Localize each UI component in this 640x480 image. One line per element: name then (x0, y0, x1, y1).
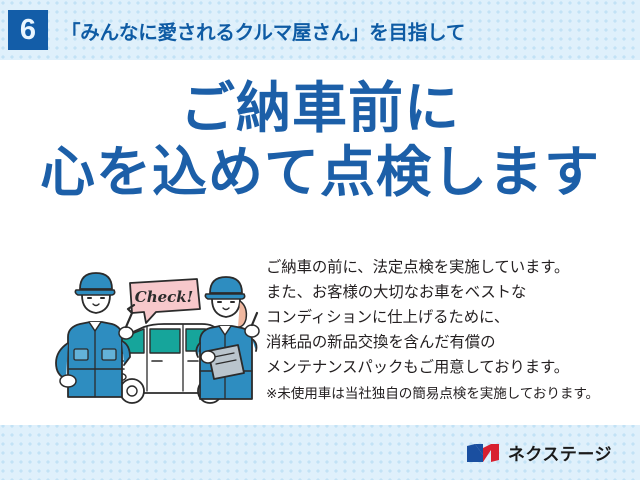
copy-note: ※未使用車は当社独自の簡易点検を実施しております。 (266, 383, 636, 405)
copy-line-4: 消耗品の新品交換を含んだ有償の (266, 331, 636, 356)
copy-line-2: また、お客様の大切なお車をベストな (266, 281, 636, 306)
headline-line-1: ご納車前に (0, 80, 640, 136)
male-mechanic-figure (56, 273, 134, 397)
female-mechanic-figure (196, 277, 259, 399)
nextage-n-mark (466, 442, 500, 464)
copy-line-3: コンディションに仕上げるために、 (266, 306, 636, 331)
page-footer: ネクステージ (0, 425, 640, 480)
promo-page: 6 「みんなに愛されるクルマ屋さん」を目指して ご納車前に 心を込めて点検します (0, 0, 640, 480)
mechanics-illustration: Check! (52, 265, 262, 405)
copy-line-1: ご納車の前に、法定点検を実施しています。 (266, 256, 636, 281)
section-number-badge: 6 (8, 10, 48, 50)
content-panel: ご納車前に 心を込めて点検します (0, 60, 640, 425)
headline: ご納車前に 心を込めて点検します (0, 80, 640, 200)
headline-line-2: 心を込めて点検します (0, 144, 640, 200)
svg-text:Check!: Check! (135, 288, 194, 306)
page-header: 6 「みんなに愛されるクルマ屋さん」を目指して (0, 0, 640, 60)
header-title: 「みんなに愛されるクルマ屋さん」を目指して (61, 16, 465, 45)
nextage-logo: ネクステージ (466, 440, 612, 465)
copy-line-5: メンテナンスパックもご用意しております。 (266, 356, 636, 381)
check-speech-bubble: Check! (130, 279, 200, 323)
brand-name: ネクステージ (508, 440, 612, 465)
body-copy: ご納車の前に、法定点検を実施しています。 また、お客様の大切なお車をベストな コ… (266, 256, 636, 405)
